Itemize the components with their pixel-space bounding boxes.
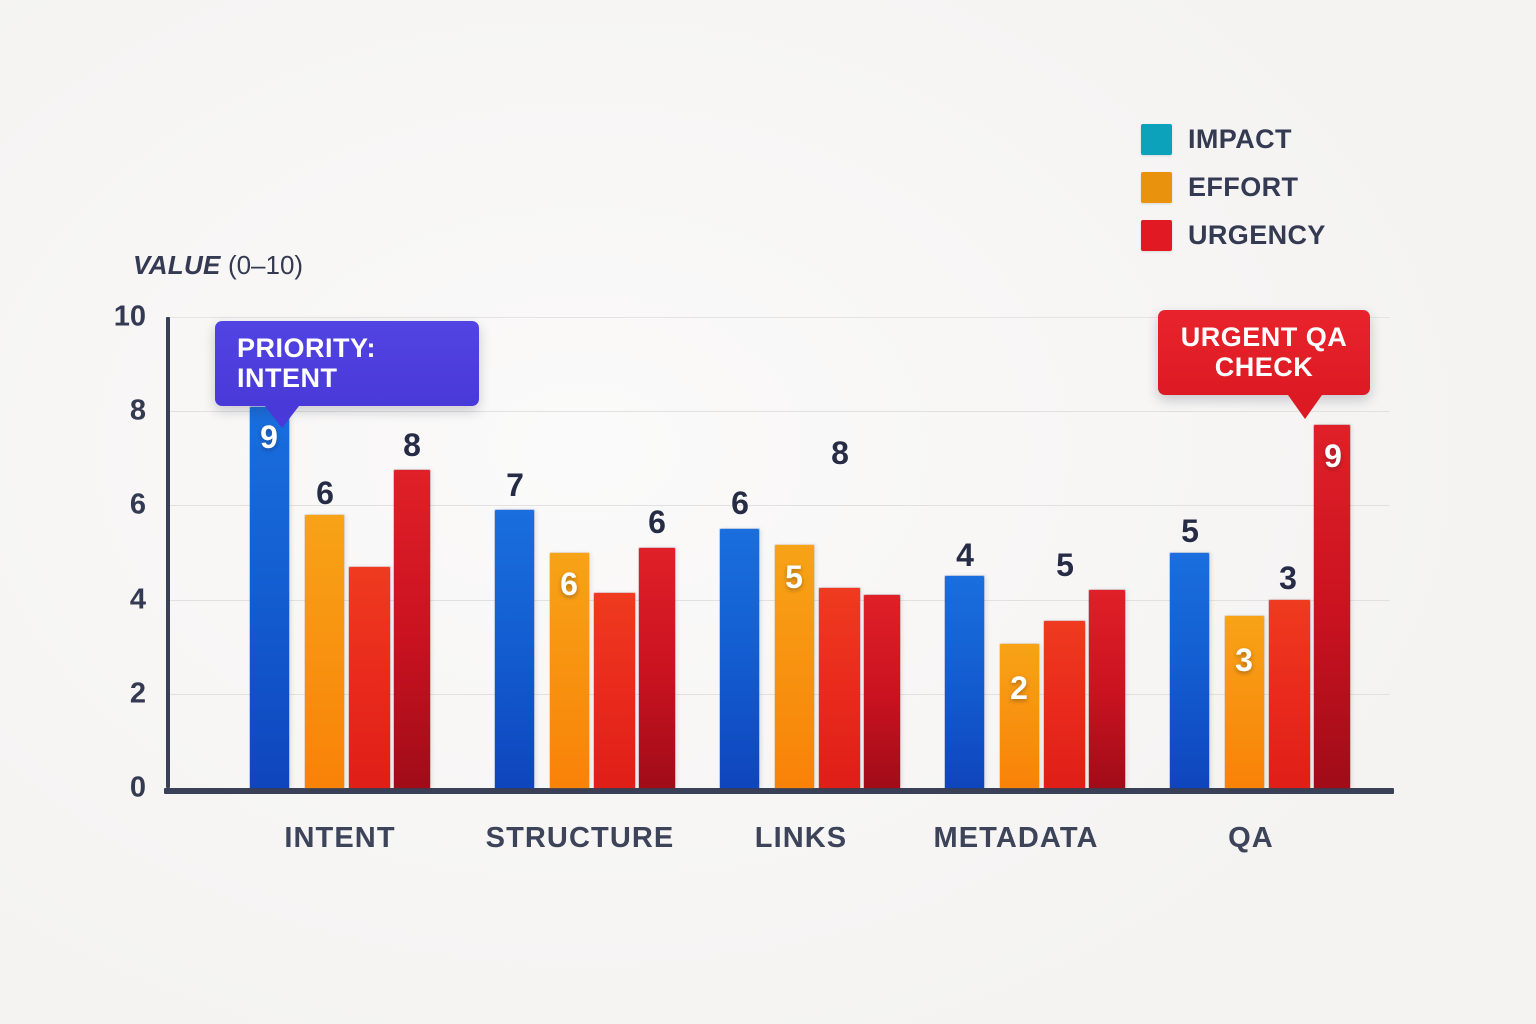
annotation-urgent-qa-check[interactable]: URGENT QA CHECK: [1158, 310, 1370, 395]
legend-swatch-impact: [1141, 124, 1172, 155]
category-label-metadata: METADATA: [933, 824, 1098, 853]
y-axis-line: [166, 317, 170, 788]
value-label-structure-impact: 7: [506, 469, 524, 501]
x-axis-line: [164, 788, 1394, 794]
bar-intent-urgency-b[interactable]: [394, 470, 430, 788]
value-label-metadata-impact: 4: [956, 539, 974, 571]
legend-label-urgency: URGENCY: [1188, 222, 1326, 249]
value-label-qa-effort: 3: [1235, 644, 1253, 676]
category-label-links: LINKS: [755, 824, 848, 853]
y-axis-title-strong: VALUE: [133, 250, 221, 280]
bar-structure-urgency-b[interactable]: [639, 548, 675, 788]
y-tick-10: 10: [114, 303, 146, 332]
bar-structure-urgency-a[interactable]: [594, 593, 635, 789]
y-tick-0: 0: [130, 774, 146, 803]
category-label-structure: STRUCTURE: [486, 824, 675, 853]
value-label-intent-urgency-b: 8: [403, 429, 421, 461]
value-label-intent-effort: 6: [316, 477, 334, 509]
y-axis-title-range: (0–10): [228, 250, 303, 280]
annotation-urgent-tail: [1288, 395, 1322, 419]
bar-qa-urgency-b[interactable]: [1314, 425, 1350, 788]
legend-label-impact: IMPACT: [1188, 126, 1292, 153]
bar-qa-urgency-a[interactable]: [1269, 600, 1310, 788]
value-label-links-impact: 6: [731, 487, 749, 519]
annotation-priority-tail: [265, 406, 299, 428]
value-label-qa-impact: 5: [1181, 515, 1199, 547]
y-axis-title: VALUE (0–10): [133, 252, 303, 278]
value-label-qa-urgency-b: 9: [1324, 440, 1342, 472]
category-label-intent: INTENT: [284, 824, 395, 853]
value-label-structure-urgency-b: 6: [648, 506, 666, 538]
chart-figure: IMPACT EFFORT URGENCY VALUE (0–10) 10 8 …: [0, 0, 1536, 1024]
value-label-metadata-effort: 2: [1010, 672, 1028, 704]
annotation-priority-intent-text: PRIORITY: INTENT: [237, 333, 376, 393]
legend-swatch-effort: [1141, 172, 1172, 203]
y-tick-2: 2: [130, 679, 146, 708]
gridline-8: [168, 411, 1390, 412]
y-tick-8: 8: [130, 397, 146, 426]
legend-swatch-urgency: [1141, 220, 1172, 251]
bar-metadata-urgency-a[interactable]: [1044, 621, 1085, 788]
annotation-urgent-qa-check-text: URGENT QA CHECK: [1181, 322, 1348, 382]
value-label-metadata-urgency-b: 5: [1056, 549, 1074, 581]
category-label-qa: QA: [1228, 824, 1274, 853]
value-label-structure-effort: 6: [560, 568, 578, 600]
y-tick-4: 4: [130, 585, 146, 614]
bar-metadata-impact[interactable]: [945, 576, 984, 788]
bar-links-urgency-a[interactable]: [819, 588, 860, 788]
value-label-links-effort: 5: [785, 561, 803, 593]
legend-item-urgency[interactable]: URGENCY: [1141, 220, 1326, 251]
legend-item-effort[interactable]: EFFORT: [1141, 172, 1326, 203]
legend-item-impact[interactable]: IMPACT: [1141, 124, 1326, 155]
value-label-qa-urgency-a: 3: [1279, 562, 1297, 594]
bar-links-urgency-b[interactable]: [864, 595, 900, 788]
value-label-links-urgency-b: 8: [831, 437, 849, 469]
gridline-6: [168, 505, 1390, 506]
chart-legend: IMPACT EFFORT URGENCY: [1141, 124, 1326, 251]
bar-metadata-effort[interactable]: [1000, 644, 1039, 788]
bar-structure-impact[interactable]: [495, 510, 534, 788]
bar-intent-urgency-a[interactable]: [349, 567, 390, 788]
bar-intent-effort[interactable]: [305, 515, 344, 788]
bar-intent-impact[interactable]: [250, 407, 289, 789]
annotation-priority-intent[interactable]: PRIORITY: INTENT: [215, 321, 479, 406]
bar-qa-impact[interactable]: [1170, 553, 1209, 789]
bar-metadata-urgency-b[interactable]: [1089, 590, 1125, 788]
y-tick-6: 6: [130, 491, 146, 520]
legend-label-effort: EFFORT: [1188, 174, 1298, 201]
bar-links-impact[interactable]: [720, 529, 759, 788]
